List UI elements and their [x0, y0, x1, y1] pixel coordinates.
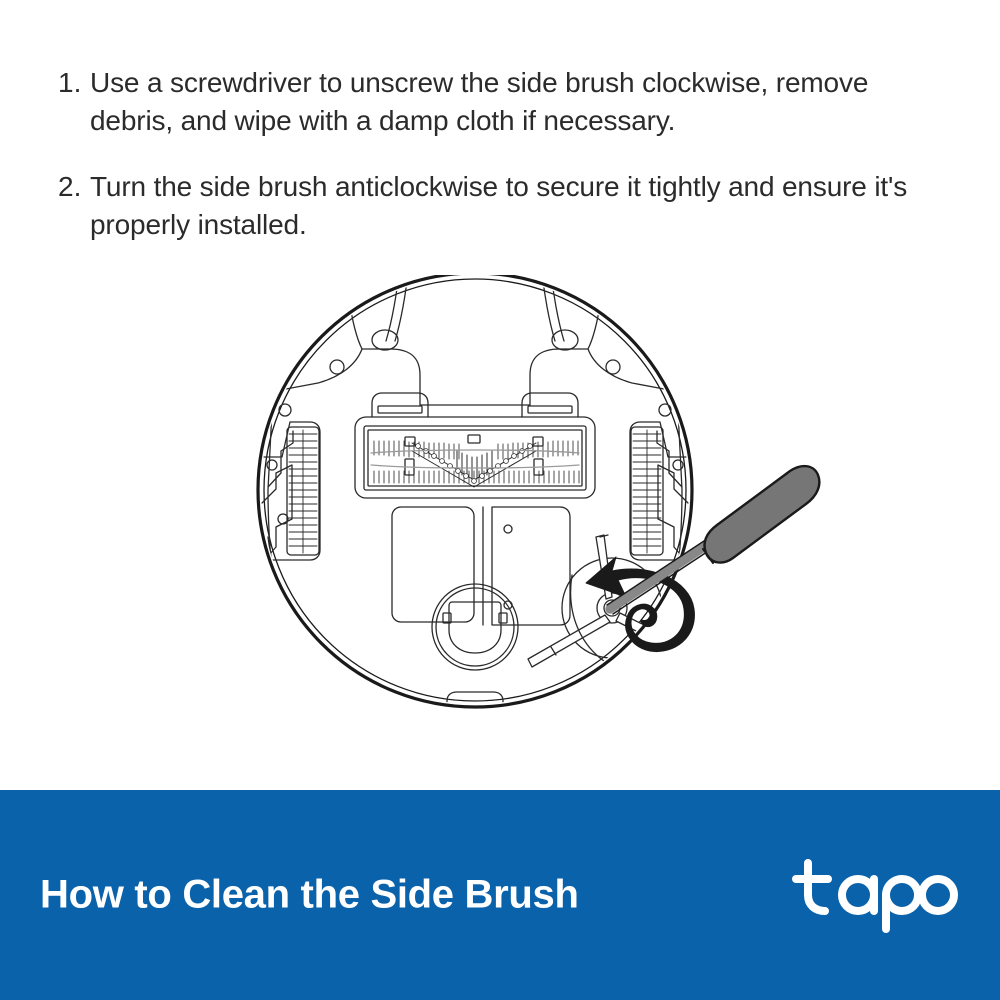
- caster-wheel-bracket: [449, 602, 501, 653]
- left-sensor-outline: [268, 431, 293, 487]
- tapo-wordmark-icon: [788, 855, 958, 935]
- upper-panel-left-wing: [286, 349, 362, 389]
- roller-center-tab: [468, 435, 480, 443]
- roller-divider: [405, 437, 415, 446]
- roller-chevron-bristles: [457, 451, 492, 479]
- roller-latch-left-slot: [378, 406, 422, 413]
- page-title: How to Clean the Side Brush: [40, 873, 579, 918]
- dustbin-plate-right: [492, 507, 570, 625]
- right-sensor-outline: [657, 431, 682, 487]
- screw-hole: [548, 714, 560, 726]
- screw-hole: [390, 714, 402, 726]
- screw-hole: [504, 525, 512, 533]
- screw-hole: [330, 360, 344, 374]
- screw-hole: [267, 460, 277, 470]
- upper-panel-outline: [349, 299, 601, 405]
- caster-wheel-outer: [432, 584, 518, 670]
- instruction-list: 1. Use a screwdriver to unscrew the side…: [58, 64, 958, 272]
- vent-oval-right: [552, 330, 578, 350]
- right-wheel-tread: [633, 430, 661, 553]
- chassis-outer-edge: [258, 275, 692, 707]
- list-item: 1. Use a screwdriver to unscrew the side…: [58, 64, 958, 140]
- screw-hole: [606, 360, 620, 374]
- bottom-rim-arc: [268, 537, 520, 709]
- dustbin-plate-left: [392, 507, 474, 622]
- caster-wheel-inner: [436, 588, 514, 666]
- screwdriver-icon: [607, 466, 819, 614]
- roller-seam-line-2: [371, 465, 579, 468]
- screw-hole: [673, 460, 683, 470]
- screwdriver-handle: [704, 466, 819, 563]
- screw-hole: [279, 404, 291, 416]
- bottom-rim-arc-2: [262, 543, 560, 721]
- robot-vacuum-illustration: [0, 275, 1000, 735]
- caster-pin-right: [499, 613, 507, 623]
- robot-vacuum-underside-diagram: [0, 275, 1000, 735]
- step-text: Use a screwdriver to unscrew the side br…: [90, 64, 958, 140]
- upper-panel-right-wing: [588, 349, 664, 389]
- instruction-card: 1. Use a screwdriver to unscrew the side…: [0, 0, 1000, 1000]
- side-brush-arm-2: [528, 615, 610, 667]
- footer-banner: How to Clean the Side Brush: [0, 790, 1000, 1000]
- screw-hole: [659, 404, 671, 416]
- roller-brush-inner-frame: [368, 430, 582, 486]
- tapo-logo: [788, 855, 958, 935]
- step-number: 2.: [58, 168, 90, 206]
- roller-latch-right-slot: [528, 406, 572, 413]
- vent-oval-left: [372, 330, 398, 350]
- step-number: 1.: [58, 64, 90, 102]
- left-wheel-tread: [289, 430, 317, 553]
- step-text: Turn the side brush anticlockwise to sec…: [90, 168, 958, 244]
- list-item: 2. Turn the side brush anticlockwise to …: [58, 168, 958, 244]
